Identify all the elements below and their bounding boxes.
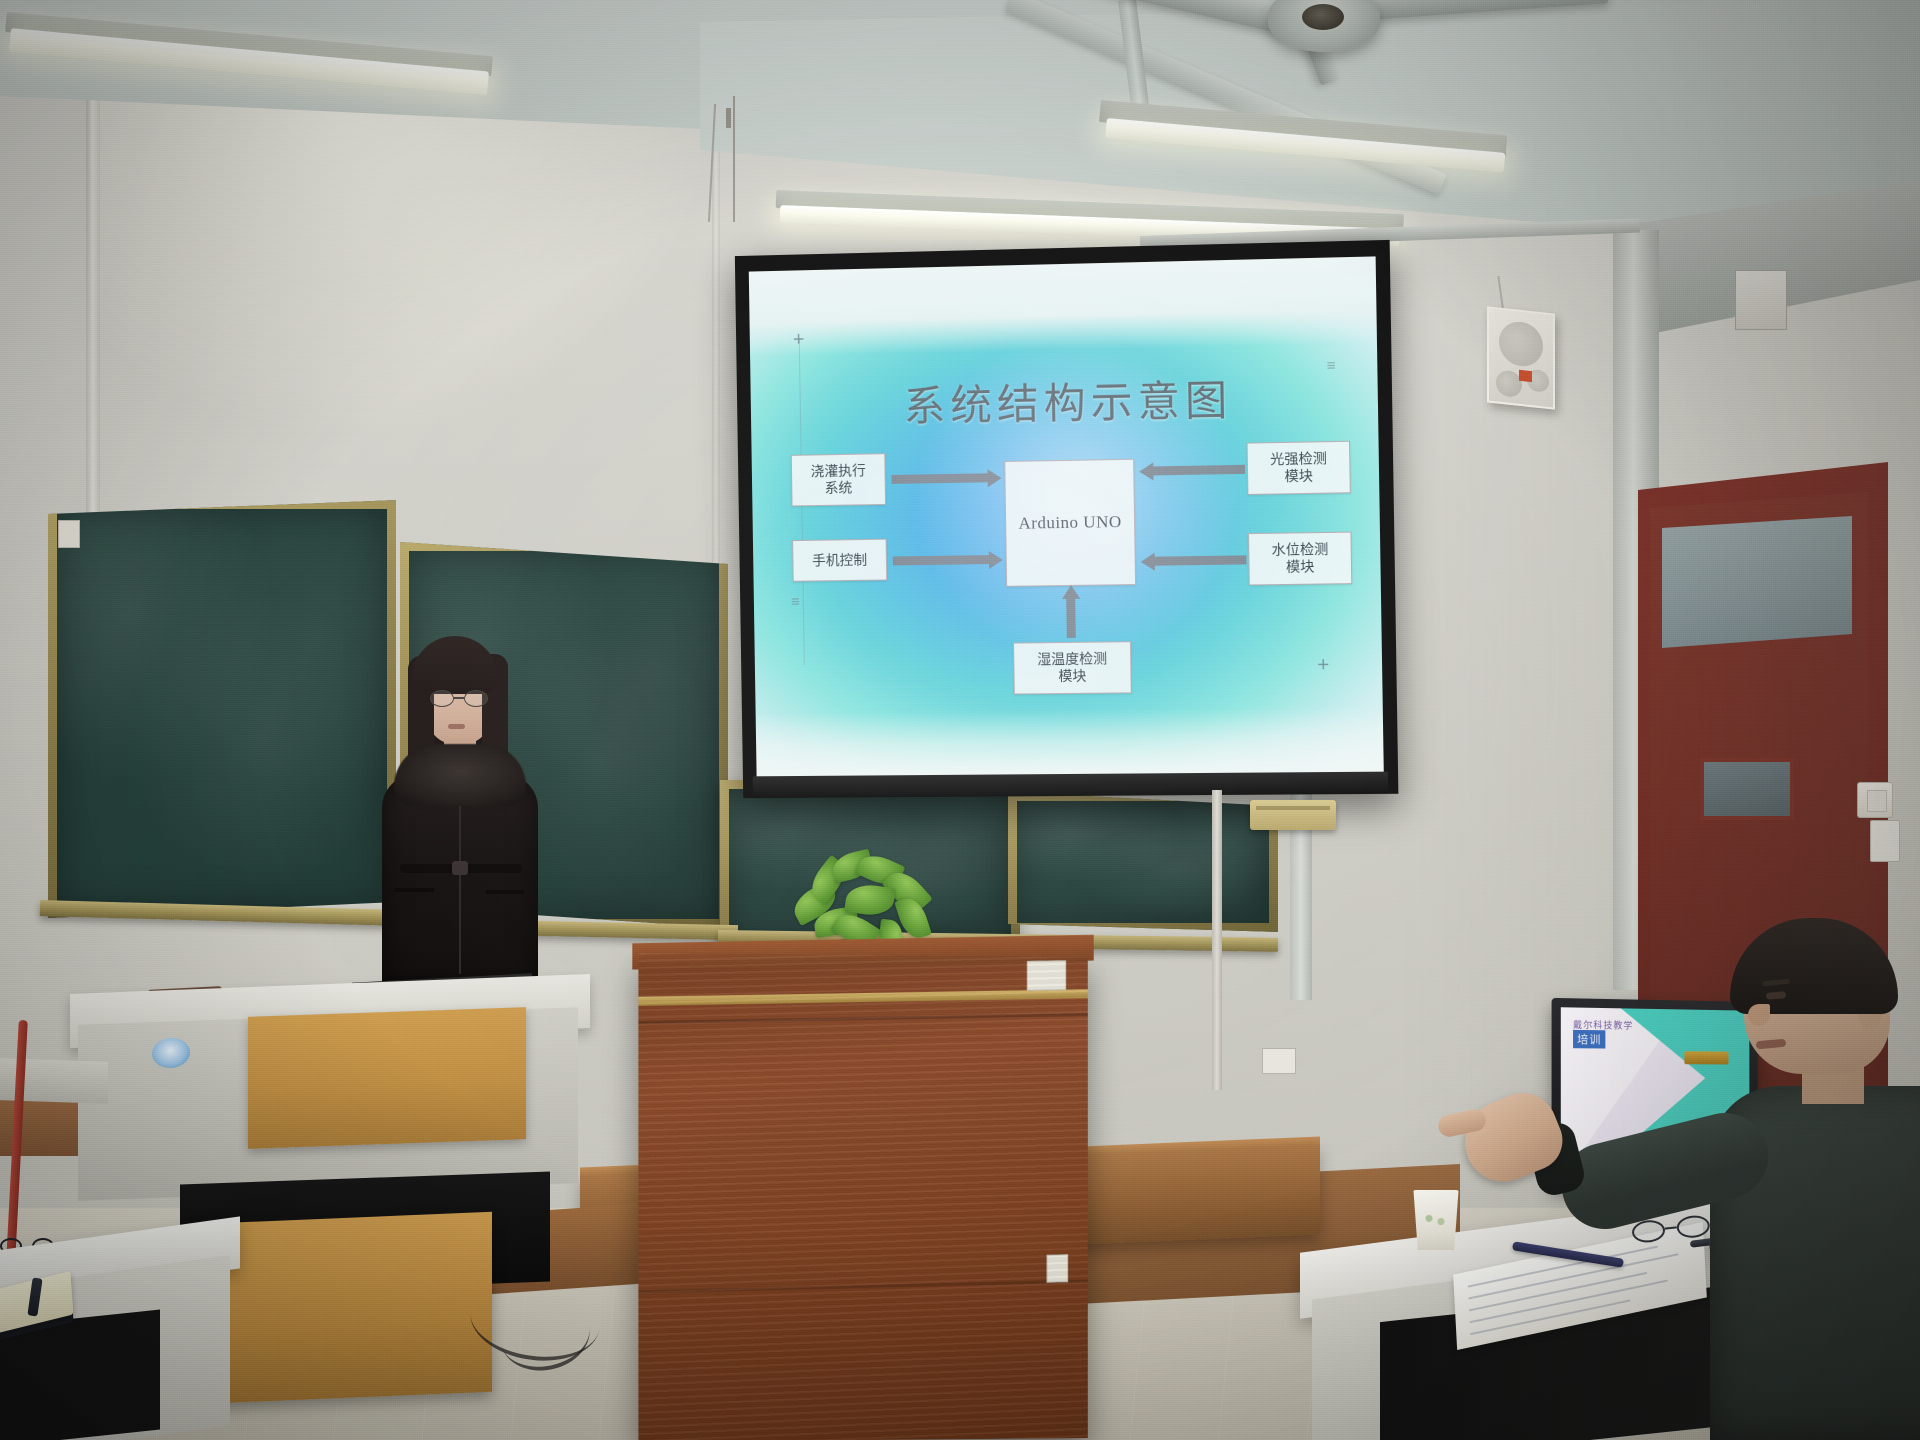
lectern-gold-trim: [638, 989, 1087, 1006]
speaker-cone-large: [1499, 320, 1543, 369]
seated-man-nose: [1748, 1004, 1770, 1026]
door-window: [1700, 758, 1794, 820]
presenter: [360, 640, 560, 980]
slide-crop-mark-top-left: +: [793, 330, 805, 350]
left-desk-wood-panel: [248, 1007, 526, 1149]
seated-man-hair: [1730, 918, 1898, 1014]
projection-screen: + + ≡ ≡ 系统结构示意图 Arduino UNO 浇灌执行 系统 手机控制…: [735, 240, 1399, 798]
slide-bottom-band: [756, 707, 1384, 776]
wall-speaker-icon: [1487, 306, 1555, 409]
screen-roller-mechanism: [1250, 800, 1336, 830]
slide-top-band: [749, 256, 1377, 356]
presenter-belt-buckle: [452, 861, 468, 875]
speaker-logo: [1519, 370, 1532, 382]
slide-canvas: + + ≡ ≡ 系统结构示意图 Arduino UNO 浇灌执行 系统 手机控制…: [749, 256, 1384, 776]
diagram-arrow-light-sensor: [1152, 465, 1245, 476]
diagram-arrow-irrigation: [891, 473, 988, 484]
blackboard-4: [1008, 792, 1278, 932]
classroom-scene: + + ≡ ≡ 系统结构示意图 Arduino UNO 浇灌执行 系统 手机控制…: [0, 0, 1920, 1440]
seated-man-eye: [1766, 991, 1786, 999]
screen-hanging-wire-1: [733, 96, 735, 222]
seated-man-torso: [1710, 1086, 1920, 1440]
blackboard-label: [58, 520, 80, 548]
screen-bottom-weight: [753, 772, 1389, 799]
lectern-asset-label-2: [1047, 1254, 1069, 1282]
light-switch[interactable]: [1857, 782, 1893, 818]
alarm-box-icon: [1735, 270, 1787, 330]
ceiling-hook: [726, 108, 731, 128]
projection-surface: + + ≡ ≡ 系统结构示意图 Arduino UNO 浇灌执行 系统 手机控制…: [749, 256, 1384, 776]
wooden-lectern: [638, 953, 1087, 1440]
diagram-arrow-phone: [893, 555, 990, 565]
seated-man: [1670, 900, 1920, 1440]
monitor-slide-line-2: 培训: [1573, 1030, 1605, 1049]
lectern-seam-lower: [638, 1280, 1087, 1294]
presenter-fur-hood: [394, 744, 526, 806]
slide-mark-bottom-left: ≡: [791, 595, 801, 610]
diagram-node-light-sensor: 光强检测 模块: [1247, 441, 1351, 495]
presenter-pocket-left: [394, 888, 434, 892]
diagram-node-irrigation: 浇灌执行 系统: [791, 453, 886, 506]
slide-title: 系统结构示意图: [809, 364, 1329, 435]
paper-cup-pattern: [1420, 1212, 1450, 1228]
power-outlet: [1262, 1048, 1296, 1074]
diagram-node-arduino: Arduino UNO: [1004, 459, 1136, 587]
presenter-coat-zipper: [459, 784, 461, 974]
diagram-arrow-temp-humidity: [1066, 598, 1076, 638]
wall-conduit: [1212, 790, 1222, 1090]
blackboard-1: [48, 500, 396, 918]
lectern-seam-upper: [638, 1013, 1087, 1024]
presenter-mouth: [448, 724, 465, 729]
power-outlet-right: [1870, 820, 1900, 862]
diagram-node-phone: 手机控制: [792, 539, 887, 582]
lectern-asset-label: [1027, 960, 1066, 991]
presenter-hair-front: [412, 636, 498, 694]
presenter-glasses-icon: [430, 690, 488, 708]
diagram-arrow-water-level: [1154, 555, 1247, 565]
door-glass-upper: [1662, 516, 1852, 648]
slide-crop-mark-bottom-right: +: [1317, 655, 1329, 675]
wall-joint-center: [712, 92, 720, 632]
presenter-pocket-right: [486, 890, 524, 894]
diagram-node-water-level: 水位检测 模块: [1248, 532, 1352, 586]
diagram-node-temp-humidity: 湿温度检测 模块: [1013, 641, 1132, 694]
